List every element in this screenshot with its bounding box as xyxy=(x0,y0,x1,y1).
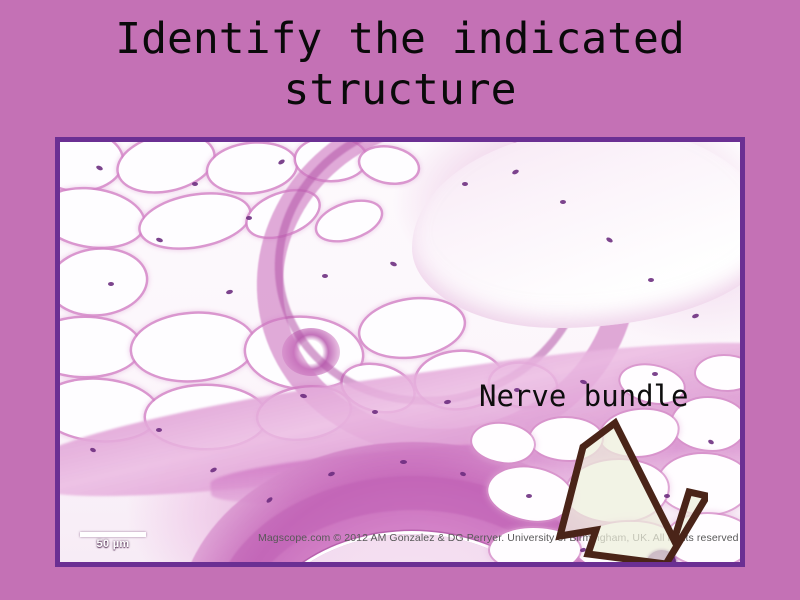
page-title: Identify the indicated structure xyxy=(0,14,800,116)
cell-nucleus xyxy=(664,494,670,498)
annotation-label: Nerve bundle xyxy=(479,379,689,413)
histology-image-frame: 50 µm Magscope.com © 2012 AM Gonzalez & … xyxy=(55,137,745,567)
scale-bar-label: 50 µm xyxy=(80,538,146,550)
attribution-text: Magscope.com © 2012 AM Gonzalez & DG Per… xyxy=(258,532,739,544)
cell-nucleus xyxy=(372,410,378,414)
cell-nucleus xyxy=(246,216,252,220)
vein-lumen xyxy=(412,142,740,328)
cell-nucleus xyxy=(462,182,468,186)
cell-nucleus xyxy=(192,182,198,186)
cell-nucleus xyxy=(526,494,532,498)
adipocyte xyxy=(530,418,602,460)
cell-nucleus xyxy=(652,372,658,376)
histology-image: 50 µm Magscope.com © 2012 AM Gonzalez & … xyxy=(60,142,740,562)
cell-nucleus xyxy=(108,282,114,286)
scale-bar-line xyxy=(80,532,146,537)
cell-nucleus xyxy=(322,274,328,278)
cell-nucleus xyxy=(648,278,654,282)
cell-nucleus xyxy=(156,428,162,432)
scale-bar: 50 µm xyxy=(80,532,146,550)
slide-canvas: Identify the indicated structure xyxy=(0,0,800,600)
cell-nucleus xyxy=(400,460,407,464)
cell-nucleus xyxy=(560,200,566,204)
